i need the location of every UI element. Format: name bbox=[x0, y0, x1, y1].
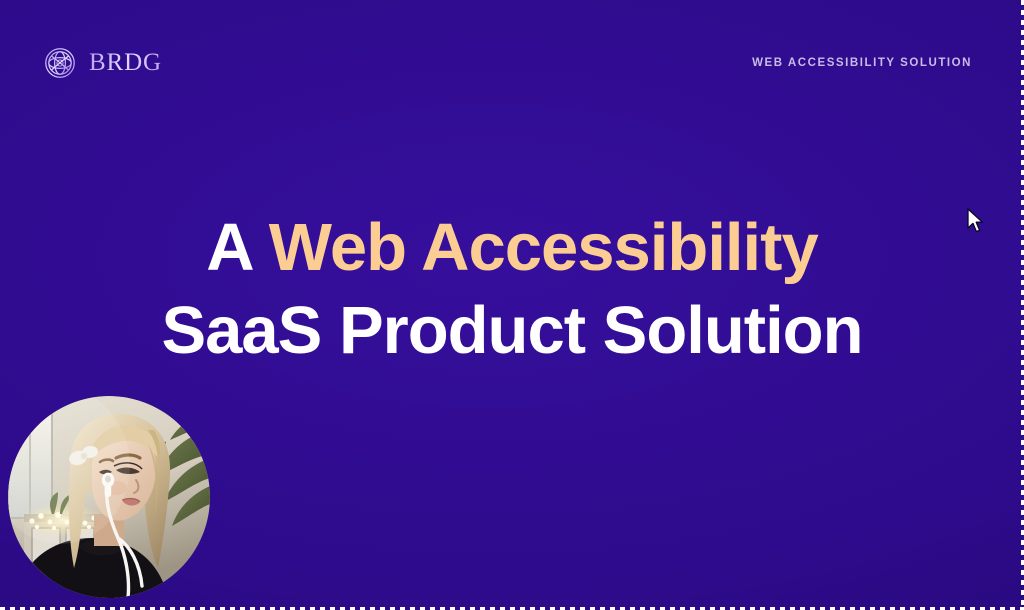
headline-line-2: SaaS Product Solution bbox=[0, 289, 1024, 372]
presenter-video-feed[interactable] bbox=[8, 396, 210, 598]
presentation-slide: BRDG WEB ACCESSIBILITY SOLUTION A Web Ac… bbox=[0, 0, 1024, 610]
slide-headline: A Web Accessibility SaaS Product Solutio… bbox=[0, 206, 1024, 372]
headline-line-1-accent: Web Accessibility bbox=[269, 210, 818, 285]
headline-line-1-plain: A bbox=[206, 210, 269, 285]
slide-header: BRDG WEB ACCESSIBILITY SOLUTION bbox=[0, 0, 1024, 126]
globe-emblem-icon bbox=[44, 47, 76, 79]
brand-wordmark: BRDG bbox=[89, 50, 162, 77]
slide-eyebrow-label: WEB ACCESSIBILITY SOLUTION bbox=[752, 57, 972, 69]
headline-line-1: A Web Accessibility bbox=[0, 206, 1024, 289]
brand-lockup[interactable]: BRDG bbox=[44, 47, 162, 79]
